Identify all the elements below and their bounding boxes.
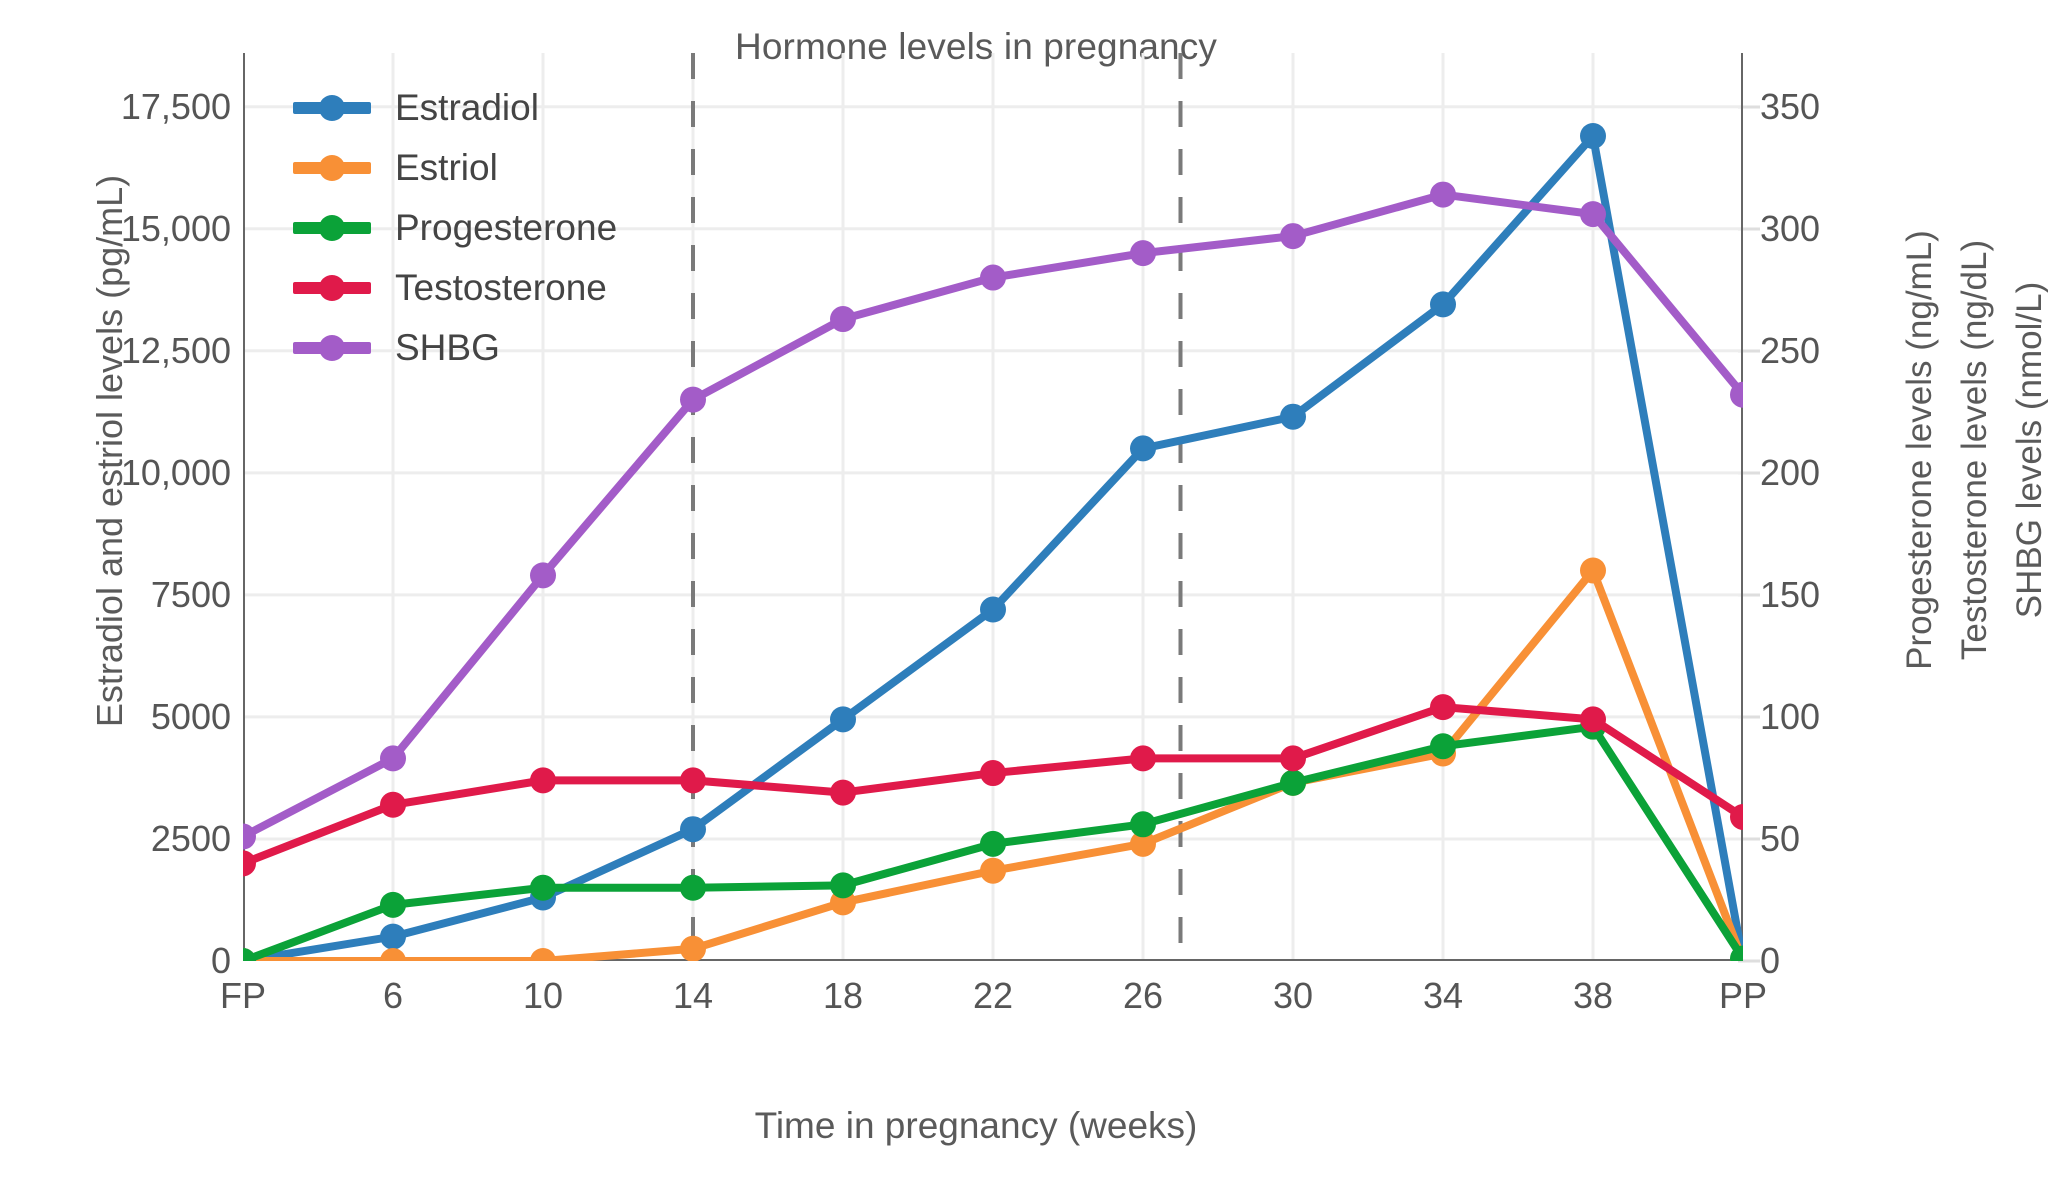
y-axis-right-tick-label: 100 [1760, 696, 1980, 738]
chart-legend[interactable]: EstradiolEstriolProgesteroneTestosterone… [293, 78, 617, 378]
data-point [1580, 557, 1606, 583]
data-point [530, 562, 556, 588]
data-point [1280, 770, 1306, 796]
data-point [380, 792, 406, 818]
x-axis-ticks: FP61014182226303438PP [243, 975, 1743, 1035]
data-point [1430, 182, 1456, 208]
data-point [830, 780, 856, 806]
legend-label: Progesterone [395, 207, 617, 249]
data-point [530, 948, 556, 961]
y-axis-left-tick-label: 10,000 [11, 452, 231, 494]
data-point [530, 767, 556, 793]
data-point [1430, 694, 1456, 720]
x-axis-tick-label: 26 [1063, 975, 1223, 1017]
y-axis-left-ticks: 025005000750010,00012,50015,00017,500 [3, 53, 231, 961]
legend-label: Estradiol [395, 87, 539, 129]
data-point [980, 265, 1006, 291]
y-axis-right-title-shbg: SHBG levels (nmol/L) [2010, 100, 2048, 800]
legend-marker-dot [319, 155, 345, 181]
data-point [380, 924, 406, 950]
data-point [680, 936, 706, 961]
legend-line-swatch [293, 162, 371, 174]
legend-marker-dot [319, 335, 345, 361]
legend-line-swatch [293, 282, 371, 294]
y-axis-right-tick-label: 200 [1760, 452, 1980, 494]
data-point [1580, 123, 1606, 149]
legend-line-swatch [293, 342, 371, 354]
data-point [1130, 745, 1156, 771]
data-point [1280, 404, 1306, 430]
data-point [830, 306, 856, 332]
y-axis-left-tick-label: 17,500 [11, 86, 231, 128]
data-point [980, 831, 1006, 857]
legend-label: SHBG [395, 327, 500, 369]
data-point [980, 858, 1006, 884]
data-point [243, 850, 256, 876]
legend-line-swatch [293, 222, 371, 234]
legend-item-progesterone[interactable]: Progesterone [293, 198, 617, 258]
x-axis-tick-label: 22 [913, 975, 1073, 1017]
x-axis-tick-label: 34 [1363, 975, 1523, 1017]
y-axis-left-tick-label: 2500 [11, 818, 231, 860]
data-point [980, 597, 1006, 623]
x-axis-tick-label: 18 [763, 975, 923, 1017]
legend-line-swatch [293, 102, 371, 114]
y-axis-left-tick-label: 7500 [11, 574, 231, 616]
y-axis-right-tick-label: 150 [1760, 574, 1980, 616]
legend-item-estradiol[interactable]: Estradiol [293, 78, 617, 138]
y-axis-left-tick-label: 12,500 [11, 330, 231, 372]
x-axis-tick-label: FP [163, 975, 323, 1017]
data-point [380, 948, 406, 961]
x-axis-tick-label: 30 [1213, 975, 1373, 1017]
data-point [1280, 223, 1306, 249]
data-point [1130, 811, 1156, 837]
x-axis-title: Time in pregnancy (weeks) [0, 1105, 2000, 1147]
x-axis-tick-label: 6 [313, 975, 473, 1017]
data-point [380, 745, 406, 771]
x-axis-tick-label: PP [1663, 975, 1823, 1017]
x-axis-tick-label: 10 [463, 975, 623, 1017]
data-point [1130, 240, 1156, 266]
legend-item-testosterone[interactable]: Testosterone [293, 258, 617, 318]
y-axis-right-tick-label: 50 [1760, 818, 1980, 860]
y-axis-left-tick-label: 5000 [11, 696, 231, 738]
y-axis-right-tick-label: 350 [1760, 86, 1980, 128]
data-point [830, 706, 856, 732]
legend-item-shbg[interactable]: SHBG [293, 318, 617, 378]
data-point [1430, 291, 1456, 317]
legend-marker-dot [319, 95, 345, 121]
data-point [380, 892, 406, 918]
y-axis-left-tick-label: 15,000 [11, 208, 231, 250]
data-point [1280, 745, 1306, 771]
data-point [680, 767, 706, 793]
data-point [980, 760, 1006, 786]
x-axis-tick-label: 14 [613, 975, 773, 1017]
data-point [680, 816, 706, 842]
x-axis-tick-label: 38 [1513, 975, 1673, 1017]
chart-figure: Hormone levels in pregnancy Estradiol an… [0, 0, 2048, 1196]
data-point [680, 875, 706, 901]
legend-label: Testosterone [395, 267, 607, 309]
data-point [1580, 706, 1606, 732]
y-axis-right-tick-label: 300 [1760, 208, 1980, 250]
y-axis-right-tick-label: 250 [1760, 330, 1980, 372]
legend-item-estriol[interactable]: Estriol [293, 138, 617, 198]
y-axis-right-ticks: 050100150200250300350 [1760, 53, 1988, 961]
data-point [680, 387, 706, 413]
data-point [243, 948, 256, 961]
legend-marker-dot [319, 215, 345, 241]
data-point [1430, 733, 1456, 759]
data-point [1580, 201, 1606, 227]
data-point [1130, 435, 1156, 461]
legend-label: Estriol [395, 147, 498, 189]
data-point [530, 875, 556, 901]
data-point [830, 872, 856, 898]
legend-marker-dot [319, 275, 345, 301]
